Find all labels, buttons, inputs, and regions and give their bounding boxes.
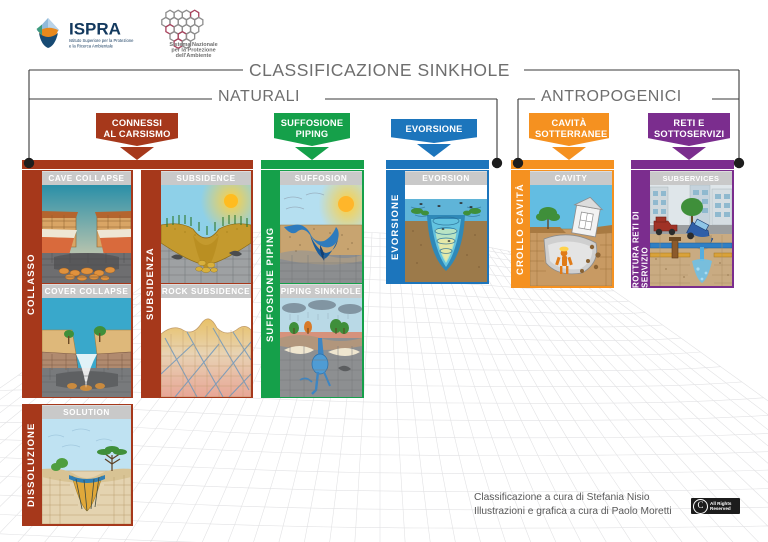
panel-title: ROCK SUBSIDENCE [161,284,251,298]
group-vertical-label-crollo-cavita: CROLLO CAVITÀ [511,170,530,288]
group-vertical-label-evorsione: EVORSIONE [386,170,405,284]
group-vertical-label-suffosione-piping: SUFFOSIONE PIPING [261,170,280,398]
group-rottura-reti: ROTTURA RETI DI SERVIZIO SUBSERVICES SIN… [631,170,734,288]
credits: Classificazione a cura di Stefania Nisio… [474,491,672,519]
illustration-subservices-sinkhole [650,185,732,286]
panel-title: SOLUTION SINKHOLE [42,405,131,419]
group-subsidenza: SUBSIDENZA SUBSIDENCE SINKHOLE [141,170,253,398]
illustration-rock-subsidence [161,298,251,397]
illustration-cave-collapse [42,185,131,283]
illustration-evorsion-sinkhole [405,185,487,282]
panel-subservices-sinkhole[interactable]: SUBSERVICES SINKHOLE [650,171,732,286]
panel-piping-sinkhole[interactable]: PIPING SINKHOLE [280,284,362,397]
group-evorsione: EVORSIONE EVORSION SINKHOLE [386,170,489,284]
copyright-line-2: Reserved [710,506,731,511]
illustration-piping-sinkhole [280,298,362,397]
panel-title: COVER COLLAPSE [42,284,131,298]
group-dissoluzione: DISSOLUZIONE SOLUTION SINKHOLE [22,404,133,526]
group-vertical-label-collasso: COLLASSO [22,170,41,398]
illustration-cover-collapse [42,298,131,397]
panel-cavity-sinkhole[interactable]: CAVITY SINKHOLE [530,171,612,286]
credits-line-1: Classificazione a cura di Stefania Nisio [474,491,672,505]
panel-rock-subsidence[interactable]: ROCK SUBSIDENCE [161,284,251,397]
group-collasso: COLLASSO CAVE COLLAPSE [22,170,133,398]
group-crollo-cavita: CROLLO CAVITÀ CAVITY SINKHOLE [511,170,614,288]
illustration-subsidence-sinkhole [161,185,251,283]
group-vertical-label-dissoluzione: DISSOLUZIONE [22,404,41,526]
hierarchy-connectors [0,0,768,180]
panel-subsidence-sinkhole[interactable]: SUBSIDENCE SINKHOLE [161,171,251,283]
illustration-suffosion-sinkhole [280,185,362,283]
illustration-solution-sinkhole [42,419,131,524]
copyright-badge: C All Rights Reserved [691,498,740,514]
panel-solution-sinkhole[interactable]: SOLUTION SINKHOLE [42,405,131,524]
credits-line-2: Illustrazioni e grafica a cura di Paolo … [474,505,672,519]
panel-suffosion-sinkhole[interactable]: SUFFOSION SINKHOLE [280,171,362,283]
panel-cover-collapse[interactable]: COVER COLLAPSE [42,284,131,397]
panel-title: PIPING SINKHOLE [280,284,362,298]
group-suffosione-piping: SUFFOSIONE PIPING SUFFOSION SINKHOLE [261,170,364,398]
illustration-cavity-sinkhole [530,185,612,286]
group-vertical-label-rottura-reti: ROTTURA RETI DI SERVIZIO [631,170,650,288]
group-vertical-label-subsidenza: SUBSIDENZA [141,170,160,398]
panel-evorsion-sinkhole[interactable]: EVORSION SINKHOLE [405,171,487,282]
panel-cave-collapse[interactable]: CAVE COLLAPSE [42,171,131,283]
copyright-icon: C [693,499,708,514]
